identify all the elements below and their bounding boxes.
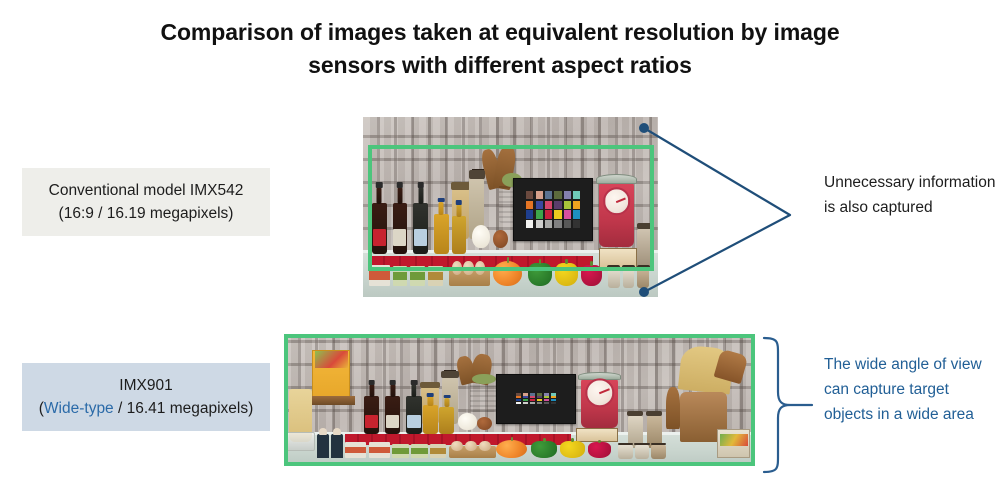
- kitchen-scale-wide: [581, 378, 619, 428]
- color-swatch-19: [516, 402, 521, 404]
- sauce-bottle-wide-1: [364, 396, 379, 434]
- page-title: Comparison of images taken at equivalent…: [110, 16, 890, 81]
- color-swatch-19: [526, 220, 533, 228]
- glass-jar-right: [637, 229, 652, 269]
- color-swatch-16: [554, 210, 561, 218]
- bracket-curve: [764, 338, 790, 472]
- color-swatch-21: [530, 402, 535, 404]
- front-can-wide-5: [430, 444, 446, 459]
- red-pepper: [581, 265, 602, 287]
- label-conventional-model: Conventional model IMX542 (16:9 / 16.19 …: [22, 168, 270, 236]
- color-swatch-5: [564, 191, 571, 199]
- label-imx901: IMX901 (Wide-type / 16.41 megapixels): [22, 363, 270, 431]
- yellow-pepper: [555, 263, 579, 286]
- color-swatch-11: [564, 201, 571, 209]
- oil-bottle-1: [434, 214, 449, 254]
- color-swatch-4: [554, 191, 561, 199]
- color-swatch-9: [545, 201, 552, 209]
- slide-canvas: Comparison of images taken at equivalent…: [0, 0, 1000, 500]
- color-swatch-22: [537, 402, 542, 404]
- front-can-wide-4: [411, 444, 427, 459]
- front-can-1: [369, 265, 390, 287]
- sauce-bottle-1: [372, 203, 387, 253]
- label-imx901-line-2: (Wide-type / 16.41 megapixels): [39, 397, 254, 420]
- callout-connector-top: [630, 110, 830, 310]
- color-swatch-6: [573, 191, 580, 199]
- scale-dial-wide: [585, 378, 614, 407]
- front-can-4: [428, 266, 443, 286]
- sauce-bottle-wide-2: [385, 396, 400, 434]
- color-swatch-20: [536, 220, 543, 228]
- spice-jar-wide-1: [618, 445, 632, 460]
- kitchen-scale: [599, 182, 634, 247]
- connector-line-v: [644, 128, 790, 292]
- color-swatch-17: [564, 210, 571, 218]
- color-checker-chart-wide: [496, 374, 576, 424]
- oil-bottle-wide-2: [439, 407, 454, 435]
- label-conventional-line-1: Conventional model IMX542: [49, 179, 244, 202]
- color-swatch-1: [526, 191, 533, 199]
- egg-wide-3: [479, 441, 490, 452]
- color-swatch-12: [573, 201, 580, 209]
- egg-wide-2: [465, 441, 476, 452]
- onion: [493, 230, 508, 248]
- front-can-wide-3: [392, 444, 408, 459]
- spice-jar-1: [608, 268, 620, 288]
- color-swatch-15: [545, 210, 552, 218]
- front-can-wide-2: [369, 442, 390, 458]
- color-swatch-7: [526, 201, 533, 209]
- color-swatch-10: [554, 201, 561, 209]
- sauce-bottle-3: [413, 203, 428, 253]
- color-swatch-14: [536, 210, 543, 218]
- still-life-scene-top: [363, 117, 658, 297]
- canned-fruit-label: [720, 434, 748, 446]
- sauce-bottle-2: [393, 203, 408, 253]
- egg-1: [452, 261, 462, 275]
- nutcracker-figure-2: [331, 434, 343, 458]
- annotation-unnecessary-information: Unnecessary information is also captured: [824, 170, 996, 220]
- color-swatch-20: [523, 402, 528, 404]
- photo-wide-sensor: [284, 334, 755, 466]
- recipe-book-cover-art: [315, 351, 348, 368]
- color-swatch-18: [573, 210, 580, 218]
- egg-wide-1: [451, 441, 462, 452]
- callout-bracket-bottom: [756, 330, 826, 480]
- color-checker-chart: [513, 178, 593, 241]
- nutcracker-figure-1: [317, 434, 329, 458]
- color-swatch-13: [526, 210, 533, 218]
- color-swatch-22: [554, 220, 561, 228]
- red-pepper-wide: [588, 442, 612, 458]
- garlic-bulb-wide: [458, 413, 477, 430]
- front-can-wide-1: [345, 442, 366, 458]
- egg-2: [463, 261, 473, 275]
- photo-conventional-sensor: [363, 117, 658, 297]
- dried-plant-wide: [472, 374, 496, 385]
- spice-jar-wide-2: [635, 445, 649, 460]
- color-swatch-2: [536, 191, 543, 199]
- label-imx901-wide-type: Wide-type: [44, 400, 114, 417]
- color-swatch-23: [564, 220, 571, 228]
- sauce-bottle-wide-3: [406, 396, 421, 434]
- spice-jar-wide-3: [651, 445, 665, 460]
- pumpkin: [493, 261, 523, 286]
- page-title-line-1: Comparison of images taken at equivalent…: [110, 16, 890, 49]
- color-swatch-21: [545, 220, 552, 228]
- color-swatch-24: [551, 402, 556, 404]
- front-can-3: [410, 266, 425, 286]
- scale-needle: [616, 198, 626, 204]
- scale-dial: [603, 187, 631, 215]
- oil-bottle-2: [452, 216, 467, 254]
- wooden-spoon: [666, 387, 680, 429]
- green-pepper: [528, 263, 552, 286]
- color-swatch-3: [545, 191, 552, 199]
- garlic-bulb: [472, 225, 490, 248]
- ceramic-crock-wide: [470, 382, 496, 412]
- spice-jar-2: [623, 268, 635, 288]
- label-imx901-line-1: IMX901: [119, 374, 172, 397]
- pumpkin-wide: [496, 440, 527, 458]
- spice-jar-3: [637, 268, 649, 288]
- color-swatch-8: [536, 201, 543, 209]
- still-life-scene-bottom: [284, 334, 755, 466]
- label-imx901-megapixels: / 16.41 megapixels): [114, 400, 254, 417]
- book-stand: [308, 396, 355, 405]
- scale-pan: [596, 174, 637, 184]
- front-can-2: [393, 266, 408, 286]
- label-conventional-line-2: (16:9 / 16.19 megapixels): [59, 202, 234, 225]
- scale-needle-wide: [599, 389, 610, 395]
- color-swatch-24: [573, 220, 580, 228]
- glass-vase: [286, 432, 314, 452]
- oil-bottle-wide-1: [423, 405, 438, 434]
- yellow-pepper-wide: [560, 441, 586, 458]
- annotation-wide-angle-benefit: The wide angle of view can capture targe…: [824, 352, 1000, 427]
- color-swatch-23: [544, 402, 549, 404]
- green-pepper-wide: [531, 441, 557, 458]
- page-title-line-2: sensors with different aspect ratios: [110, 49, 890, 82]
